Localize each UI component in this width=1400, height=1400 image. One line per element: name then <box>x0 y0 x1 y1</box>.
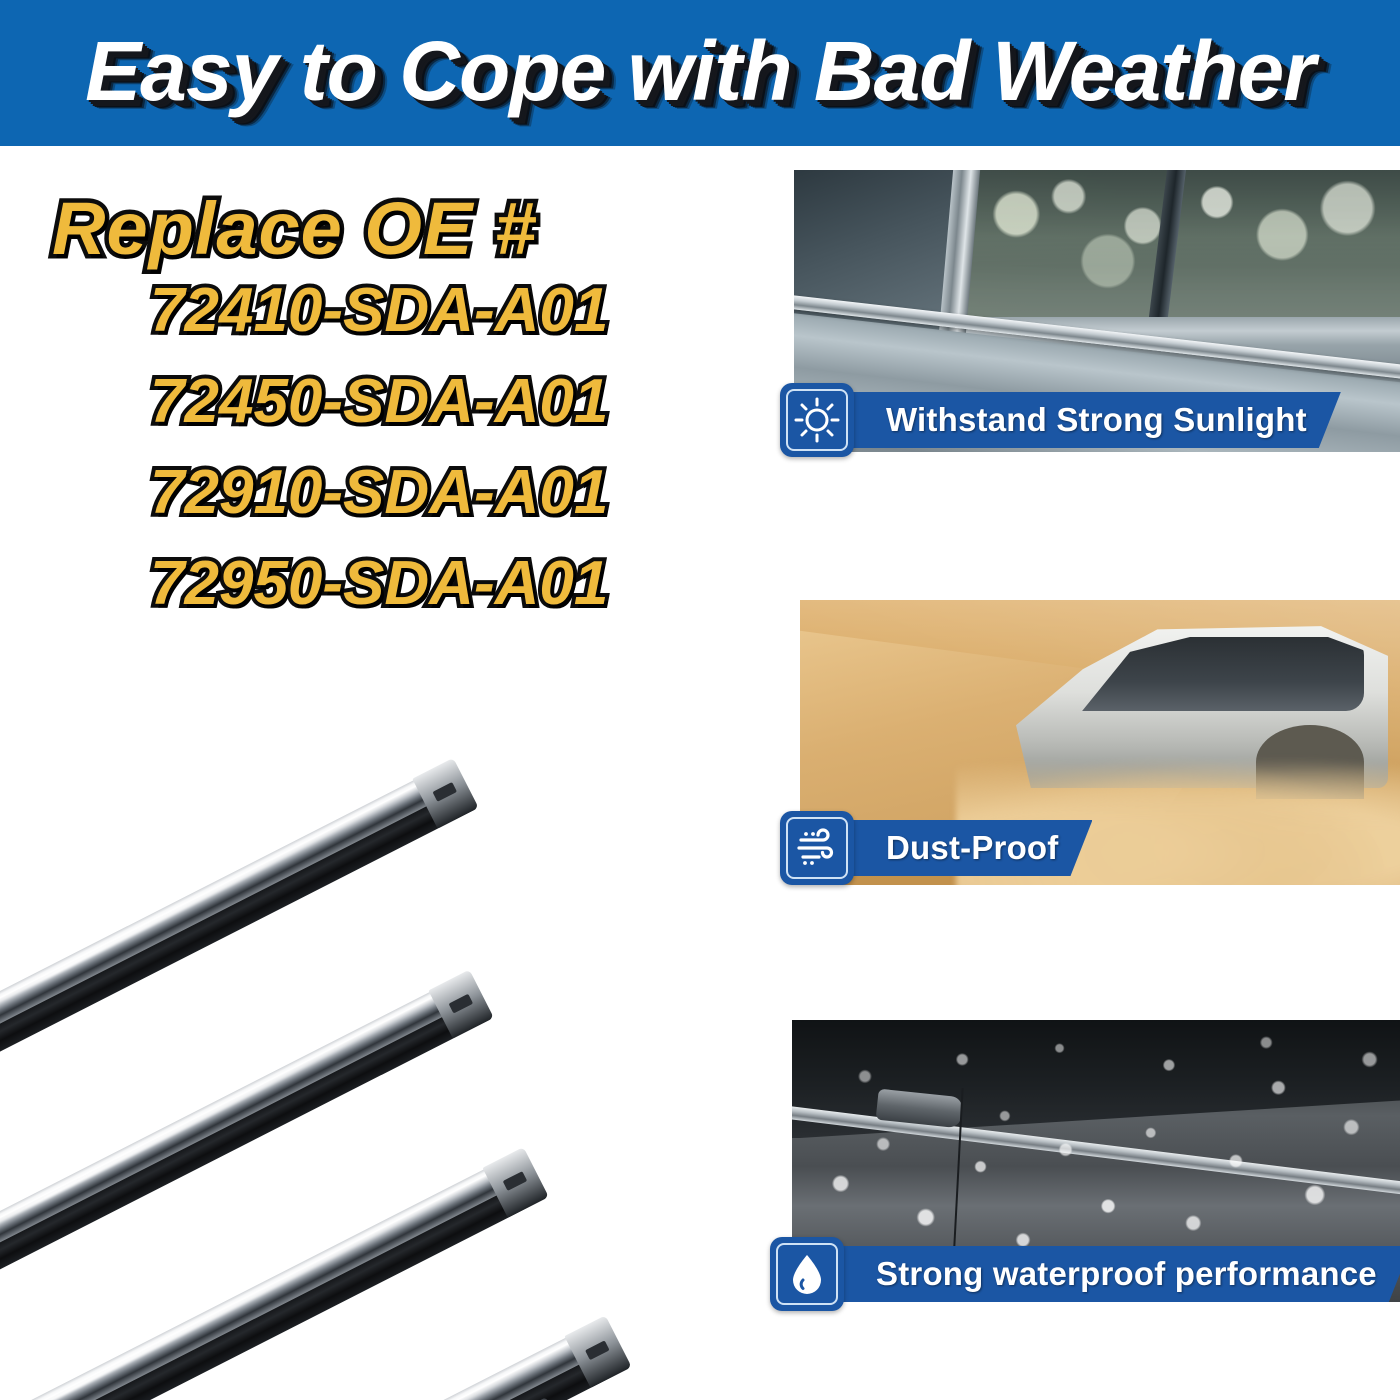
feature-label-dust: Dust-Proof <box>816 829 1092 867</box>
feature-badge-waterproof: Strong waterproof performance <box>770 1237 844 1311</box>
badge-bar-waterproof: Strong waterproof performance <box>806 1246 1400 1302</box>
badge-bar-dust: Dust-Proof <box>816 820 1092 876</box>
oe-number-item: 72450-SDA-A01 <box>150 369 740 436</box>
water-drop-icon <box>770 1237 844 1311</box>
oe-number-item: 72910-SDA-A01 <box>150 460 740 527</box>
feature-label-waterproof: Strong waterproof performance <box>806 1255 1400 1293</box>
feature-label-sunlight: Withstand Strong Sunlight <box>816 401 1341 439</box>
oe-number-list: 72410-SDA-A01 72450-SDA-A01 72910-SDA-A0… <box>0 278 740 642</box>
product-image-weatherstrip-moldings <box>0 700 770 1400</box>
feature-badge-dust: Dust-Proof <box>780 811 854 885</box>
oe-heading: Replace OE # <box>52 186 537 271</box>
sun-icon <box>780 383 854 457</box>
page-title: Easy to Cope with Bad Weather <box>0 0 1400 144</box>
badge-bar-sunlight: Withstand Strong Sunlight <box>816 392 1341 448</box>
feature-badge-sunlight: Withstand Strong Sunlight <box>780 383 854 457</box>
oe-number-item: 72410-SDA-A01 <box>150 278 740 345</box>
oe-number-item: 72950-SDA-A01 <box>150 551 740 618</box>
header-banner: Easy to Cope with Bad Weather <box>0 0 1400 146</box>
oe-number-section: Replace OE # 72410-SDA-A01 72450-SDA-A01… <box>0 160 740 680</box>
wind-dust-icon <box>780 811 854 885</box>
